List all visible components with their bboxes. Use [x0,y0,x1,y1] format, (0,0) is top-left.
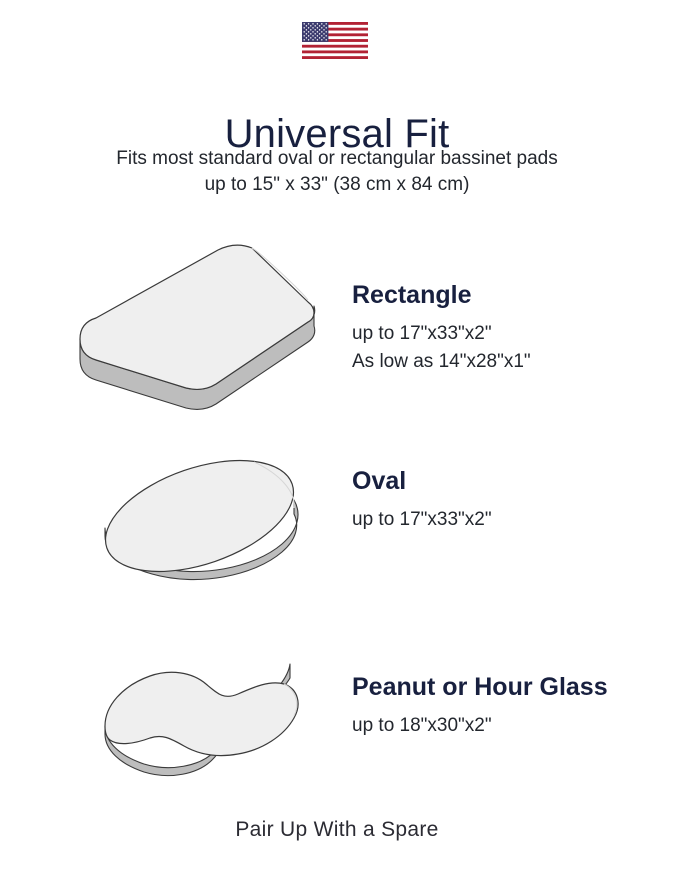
shape-name-rectangle: Rectangle [352,280,531,310]
oval-pad-icon [58,440,328,600]
shape-spec-peanut-1: up to 18"x30"x2" [352,712,608,740]
shape-text-oval: Oval up to 17"x33"x2" [352,466,492,534]
shape-name-peanut: Peanut or Hour Glass [352,672,608,702]
shape-spec-oval-1: up to 17"x33"x2" [352,506,492,534]
footer-tagline: Pair Up With a Spare [0,818,674,842]
subtitle-line-1: Fits most standard oval or rectangular b… [0,146,674,172]
shape-text-rectangle: Rectangle up to 17"x33"x2" As low as 14"… [352,280,531,375]
rectangle-pad-icon [58,238,328,418]
shape-spec-rectangle-2: As low as 14"x28"x1" [352,348,531,376]
peanut-pad-icon [58,630,328,795]
subtitle-line-2: up to 15" x 33" (38 cm x 84 cm) [0,172,674,198]
us-flag-icon [302,22,368,59]
subtitle: Fits most standard oval or rectangular b… [0,146,674,197]
shape-text-peanut: Peanut or Hour Glass up to 18"x30"x2" [352,672,608,740]
shape-spec-rectangle-1: up to 17"x33"x2" [352,320,531,348]
shape-name-oval: Oval [352,466,492,496]
